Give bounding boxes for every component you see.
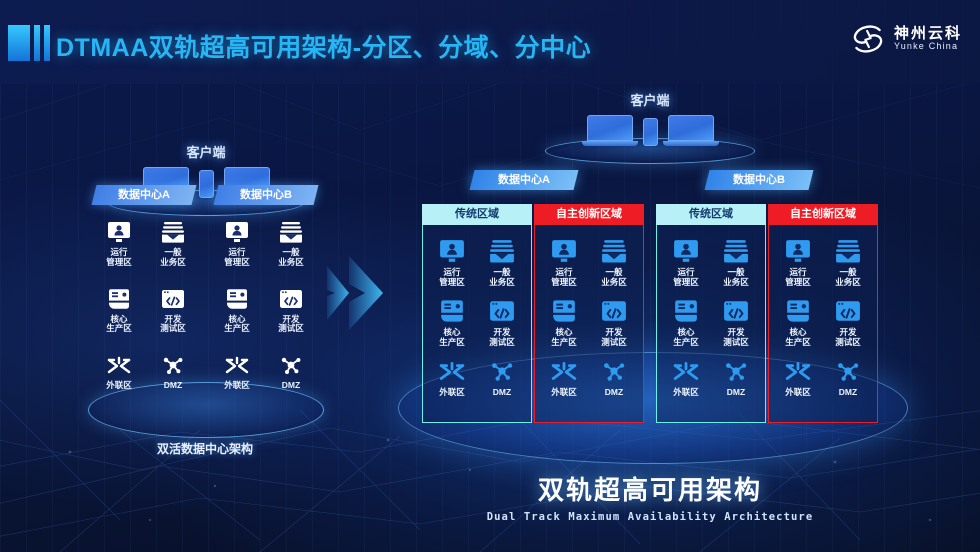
zone-ops[interactable]: 运行 管理区 xyxy=(539,237,589,287)
network-arrows-icon xyxy=(427,357,477,385)
left-datacenter-columns: 运行 管理区 一般 业务区 核心 生产区 xyxy=(90,219,320,391)
server-database-icon xyxy=(661,297,711,325)
zone-dev[interactable]: 开发 测试区 xyxy=(711,297,761,347)
panel-header: 传统区域 xyxy=(656,204,766,225)
code-window-icon xyxy=(264,286,318,312)
zone-core[interactable]: 核心 生产区 xyxy=(661,297,711,347)
panel-header: 传统区域 xyxy=(422,204,532,225)
node-cluster-icon xyxy=(711,357,761,385)
panel-innovation-dc-b[interactable]: 自主创新区域 运行 管理区 一般 业务区 核心 生产区 xyxy=(768,204,878,423)
zone-ext-label: 外联区 xyxy=(539,387,589,397)
network-arrows-icon xyxy=(92,352,146,378)
zone-dmz-label: DMZ xyxy=(589,387,639,397)
dual-track-architecture-group: 数据中心A 数据中心B 传统区域 运行 管理区 一般 业务区 xyxy=(400,170,900,426)
zone-dev: 开发 测试区 xyxy=(264,286,318,335)
swirl-logo-icon xyxy=(850,22,886,56)
inbox-tray-icon xyxy=(477,237,527,265)
zone-dmz-label: DMZ xyxy=(711,387,761,397)
zone-biz: 一般 业务区 xyxy=(146,219,200,268)
right-datacenter-badges: 数据中心A 数据中心B xyxy=(400,170,900,196)
slide-canvas: DTMAA双轨超高可用架构-分区、分域、分中心 神州云科 Yunke China… xyxy=(0,0,980,552)
zone-dev-label: 开发 测试区 xyxy=(589,327,639,347)
inbox-tray-icon xyxy=(711,237,761,265)
panel-body: 运行 管理区 一般 业务区 核心 生产区 开发 测试区 xyxy=(534,225,644,423)
code-window-icon xyxy=(589,297,639,325)
right-dc-badge-a: 数据中心A xyxy=(470,170,579,190)
laptop-icon xyxy=(587,115,633,146)
code-window-icon xyxy=(146,286,200,312)
panel-header: 自主创新区域 xyxy=(768,204,878,225)
zone-dev: 开发 测试区 xyxy=(146,286,200,335)
zone-biz[interactable]: 一般 业务区 xyxy=(823,237,873,287)
zone-dev[interactable]: 开发 测试区 xyxy=(589,297,639,347)
left-datacenter-badges: 数据中心A 数据中心B xyxy=(90,185,320,205)
zone-ext[interactable]: 外联区 xyxy=(773,357,823,397)
zone-dmz-label: DMZ xyxy=(264,381,318,391)
zone-core[interactable]: 核心 生产区 xyxy=(427,297,477,347)
monitor-person-icon xyxy=(661,237,711,265)
node-cluster-icon xyxy=(589,357,639,385)
zone-biz[interactable]: 一般 业务区 xyxy=(477,237,527,287)
network-arrows-icon xyxy=(773,357,823,385)
zone-biz[interactable]: 一般 业务区 xyxy=(711,237,761,287)
server-database-icon xyxy=(773,297,823,325)
zone-dev-label: 开发 测试区 xyxy=(477,327,527,347)
zone-dmz-label: DMZ xyxy=(823,387,873,397)
zone-dmz-label: DMZ xyxy=(477,387,527,397)
node-cluster-icon xyxy=(823,357,873,385)
code-window-icon xyxy=(477,297,527,325)
zone-biz-label: 一般 业务区 xyxy=(823,267,873,287)
network-arrows-icon xyxy=(210,352,264,378)
zone-core-label: 核心 生产区 xyxy=(427,327,477,347)
zone-ext: 外联区 xyxy=(210,352,264,391)
zone-core-label: 核心 生产区 xyxy=(210,315,264,335)
zone-dev-label: 开发 测试区 xyxy=(823,327,873,347)
double-chevron-right-icon xyxy=(325,252,387,339)
zone-ops-label: 运行 管理区 xyxy=(210,248,264,268)
panel-body: 运行 管理区 一般 业务区 核心 生产区 开发 测试区 xyxy=(768,225,878,423)
zone-core[interactable]: 核心 生产区 xyxy=(539,297,589,347)
logo-name-en: Yunke China xyxy=(894,42,962,51)
left-dc-badge-b-label: 数据中心B xyxy=(240,185,292,205)
zone-dmz-label: DMZ xyxy=(146,381,200,391)
server-database-icon xyxy=(427,297,477,325)
left-dc-b-zones: 运行 管理区 一般 业务区 核心 生产区 xyxy=(210,219,318,391)
phone-icon xyxy=(643,118,658,146)
bottom-title-block: 双轨超高可用架构 Dual Track Maximum Availability… xyxy=(400,470,900,523)
inbox-tray-icon xyxy=(589,237,639,265)
zone-biz-label: 一般 业务区 xyxy=(146,248,200,268)
dual-active-architecture-group: 数据中心A 数据中心B 运行 管理区 一般 业务区 xyxy=(90,185,320,391)
zone-dmz: DMZ xyxy=(264,352,318,391)
zone-ops: 运行 管理区 xyxy=(92,219,146,268)
node-cluster-icon xyxy=(477,357,527,385)
network-arrows-icon xyxy=(539,357,589,385)
zone-core-label: 核心 生产区 xyxy=(661,327,711,347)
zone-core[interactable]: 核心 生产区 xyxy=(773,297,823,347)
bottom-title-cn: 双轨超高可用架构 xyxy=(400,470,900,507)
monitor-person-icon xyxy=(773,237,823,265)
panel-innovation-dc-a[interactable]: 自主创新区域 运行 管理区 一般 业务区 核心 生产区 xyxy=(534,204,644,423)
monitor-person-icon xyxy=(92,219,146,245)
zone-ops: 运行 管理区 xyxy=(210,219,264,268)
network-arrows-icon xyxy=(661,357,711,385)
three-vertical-bars-icon xyxy=(8,25,50,61)
right-clients-title: 客户端 xyxy=(545,90,755,109)
zone-ops[interactable]: 运行 管理区 xyxy=(661,237,711,287)
zone-core-label: 核心 生产区 xyxy=(773,327,823,347)
zone-ext-label: 外联区 xyxy=(661,387,711,397)
zone-biz: 一般 业务区 xyxy=(264,219,318,268)
page-title: DTMAA双轨超高可用架构-分区、分域、分中心 xyxy=(56,28,591,64)
zone-dev-label: 开发 测试区 xyxy=(146,315,200,335)
slide-header: DTMAA双轨超高可用架构-分区、分域、分中心 神州云科 Yunke China xyxy=(0,0,980,84)
laptop-icon xyxy=(668,115,714,146)
left-dc-badge-a: 数据中心A xyxy=(92,185,197,205)
left-section-caption: 双活数据中心架构 xyxy=(90,440,320,457)
zone-ops[interactable]: 运行 管理区 xyxy=(427,237,477,287)
left-dc-badge-a-label: 数据中心A xyxy=(118,185,170,205)
zone-ext[interactable]: 外联区 xyxy=(427,357,477,397)
zone-dev[interactable]: 开发 测试区 xyxy=(477,297,527,347)
zone-dmz: DMZ xyxy=(146,352,200,391)
logo-name-cn: 神州云科 xyxy=(894,26,962,42)
zone-ext-label: 外联区 xyxy=(210,381,264,391)
left-clients-title: 客户端 xyxy=(108,142,304,161)
zone-ext-label: 外联区 xyxy=(773,387,823,397)
monitor-person-icon xyxy=(427,237,477,265)
right-dc-badge-b: 数据中心B xyxy=(705,170,814,190)
inbox-tray-icon xyxy=(264,219,318,245)
left-dc-a-zones: 运行 管理区 一般 业务区 核心 生产区 xyxy=(92,219,200,391)
zone-ops[interactable]: 运行 管理区 xyxy=(773,237,823,287)
zone-ext: 外联区 xyxy=(92,352,146,391)
monitor-person-icon xyxy=(539,237,589,265)
zone-biz-label: 一般 业务区 xyxy=(711,267,761,287)
right-clients-cluster: 客户端 xyxy=(545,90,755,164)
panel-traditional-dc-b[interactable]: 传统区域 运行 管理区 一般 业务区 核心 生产区 xyxy=(656,204,766,423)
zone-ext-label: 外联区 xyxy=(427,387,477,397)
server-database-icon xyxy=(210,286,264,312)
zone-dev-label: 开发 测试区 xyxy=(264,315,318,335)
zone-ext[interactable]: 外联区 xyxy=(661,357,711,397)
code-window-icon xyxy=(711,297,761,325)
zone-dmz[interactable]: DMZ xyxy=(711,357,761,397)
node-cluster-icon xyxy=(146,352,200,378)
zone-ext[interactable]: 外联区 xyxy=(539,357,589,397)
monitor-person-icon xyxy=(210,219,264,245)
zone-ops-label: 运行 管理区 xyxy=(539,267,589,287)
zone-core: 核心 生产区 xyxy=(92,286,146,335)
inbox-tray-icon xyxy=(823,237,873,265)
code-window-icon xyxy=(823,297,873,325)
zone-core: 核心 生产区 xyxy=(210,286,264,335)
panel-body: 运行 管理区 一般 业务区 核心 生产区 开发 测试区 xyxy=(422,225,532,423)
inbox-tray-icon xyxy=(146,219,200,245)
zone-ops-label: 运行 管理区 xyxy=(773,267,823,287)
server-database-icon xyxy=(539,297,589,325)
zone-panels: 传统区域 运行 管理区 一般 业务区 核心 生产区 xyxy=(400,204,900,426)
zone-core-label: 核心 生产区 xyxy=(92,315,146,335)
right-dc-badge-b-label: 数据中心B xyxy=(733,170,785,190)
left-dc-badge-b: 数据中心B xyxy=(214,185,319,205)
zone-dev-label: 开发 测试区 xyxy=(711,327,761,347)
zone-biz[interactable]: 一般 业务区 xyxy=(589,237,639,287)
brand-logo: 神州云科 Yunke China xyxy=(850,22,962,56)
zone-ops-label: 运行 管理区 xyxy=(92,248,146,268)
zone-core-label: 核心 生产区 xyxy=(539,327,589,347)
zone-dmz[interactable]: DMZ xyxy=(823,357,873,397)
zone-dmz[interactable]: DMZ xyxy=(589,357,639,397)
panel-header: 自主创新区域 xyxy=(534,204,644,225)
zone-dev[interactable]: 开发 测试区 xyxy=(823,297,873,347)
panel-traditional-dc-a[interactable]: 传统区域 运行 管理区 一般 业务区 核心 生产区 xyxy=(422,204,532,423)
zone-biz-label: 一般 业务区 xyxy=(477,267,527,287)
right-dc-badge-a-label: 数据中心A xyxy=(498,170,550,190)
zone-dmz[interactable]: DMZ xyxy=(477,357,527,397)
zone-ops-label: 运行 管理区 xyxy=(661,267,711,287)
zone-biz-label: 一般 业务区 xyxy=(589,267,639,287)
zone-ext-label: 外联区 xyxy=(92,381,146,391)
zone-biz-label: 一般 业务区 xyxy=(264,248,318,268)
bottom-title-en: Dual Track Maximum Availability Architec… xyxy=(400,511,900,523)
node-cluster-icon xyxy=(264,352,318,378)
server-database-icon xyxy=(92,286,146,312)
zone-ops-label: 运行 管理区 xyxy=(427,267,477,287)
panel-body: 运行 管理区 一般 业务区 核心 生产区 开发 测试区 xyxy=(656,225,766,423)
